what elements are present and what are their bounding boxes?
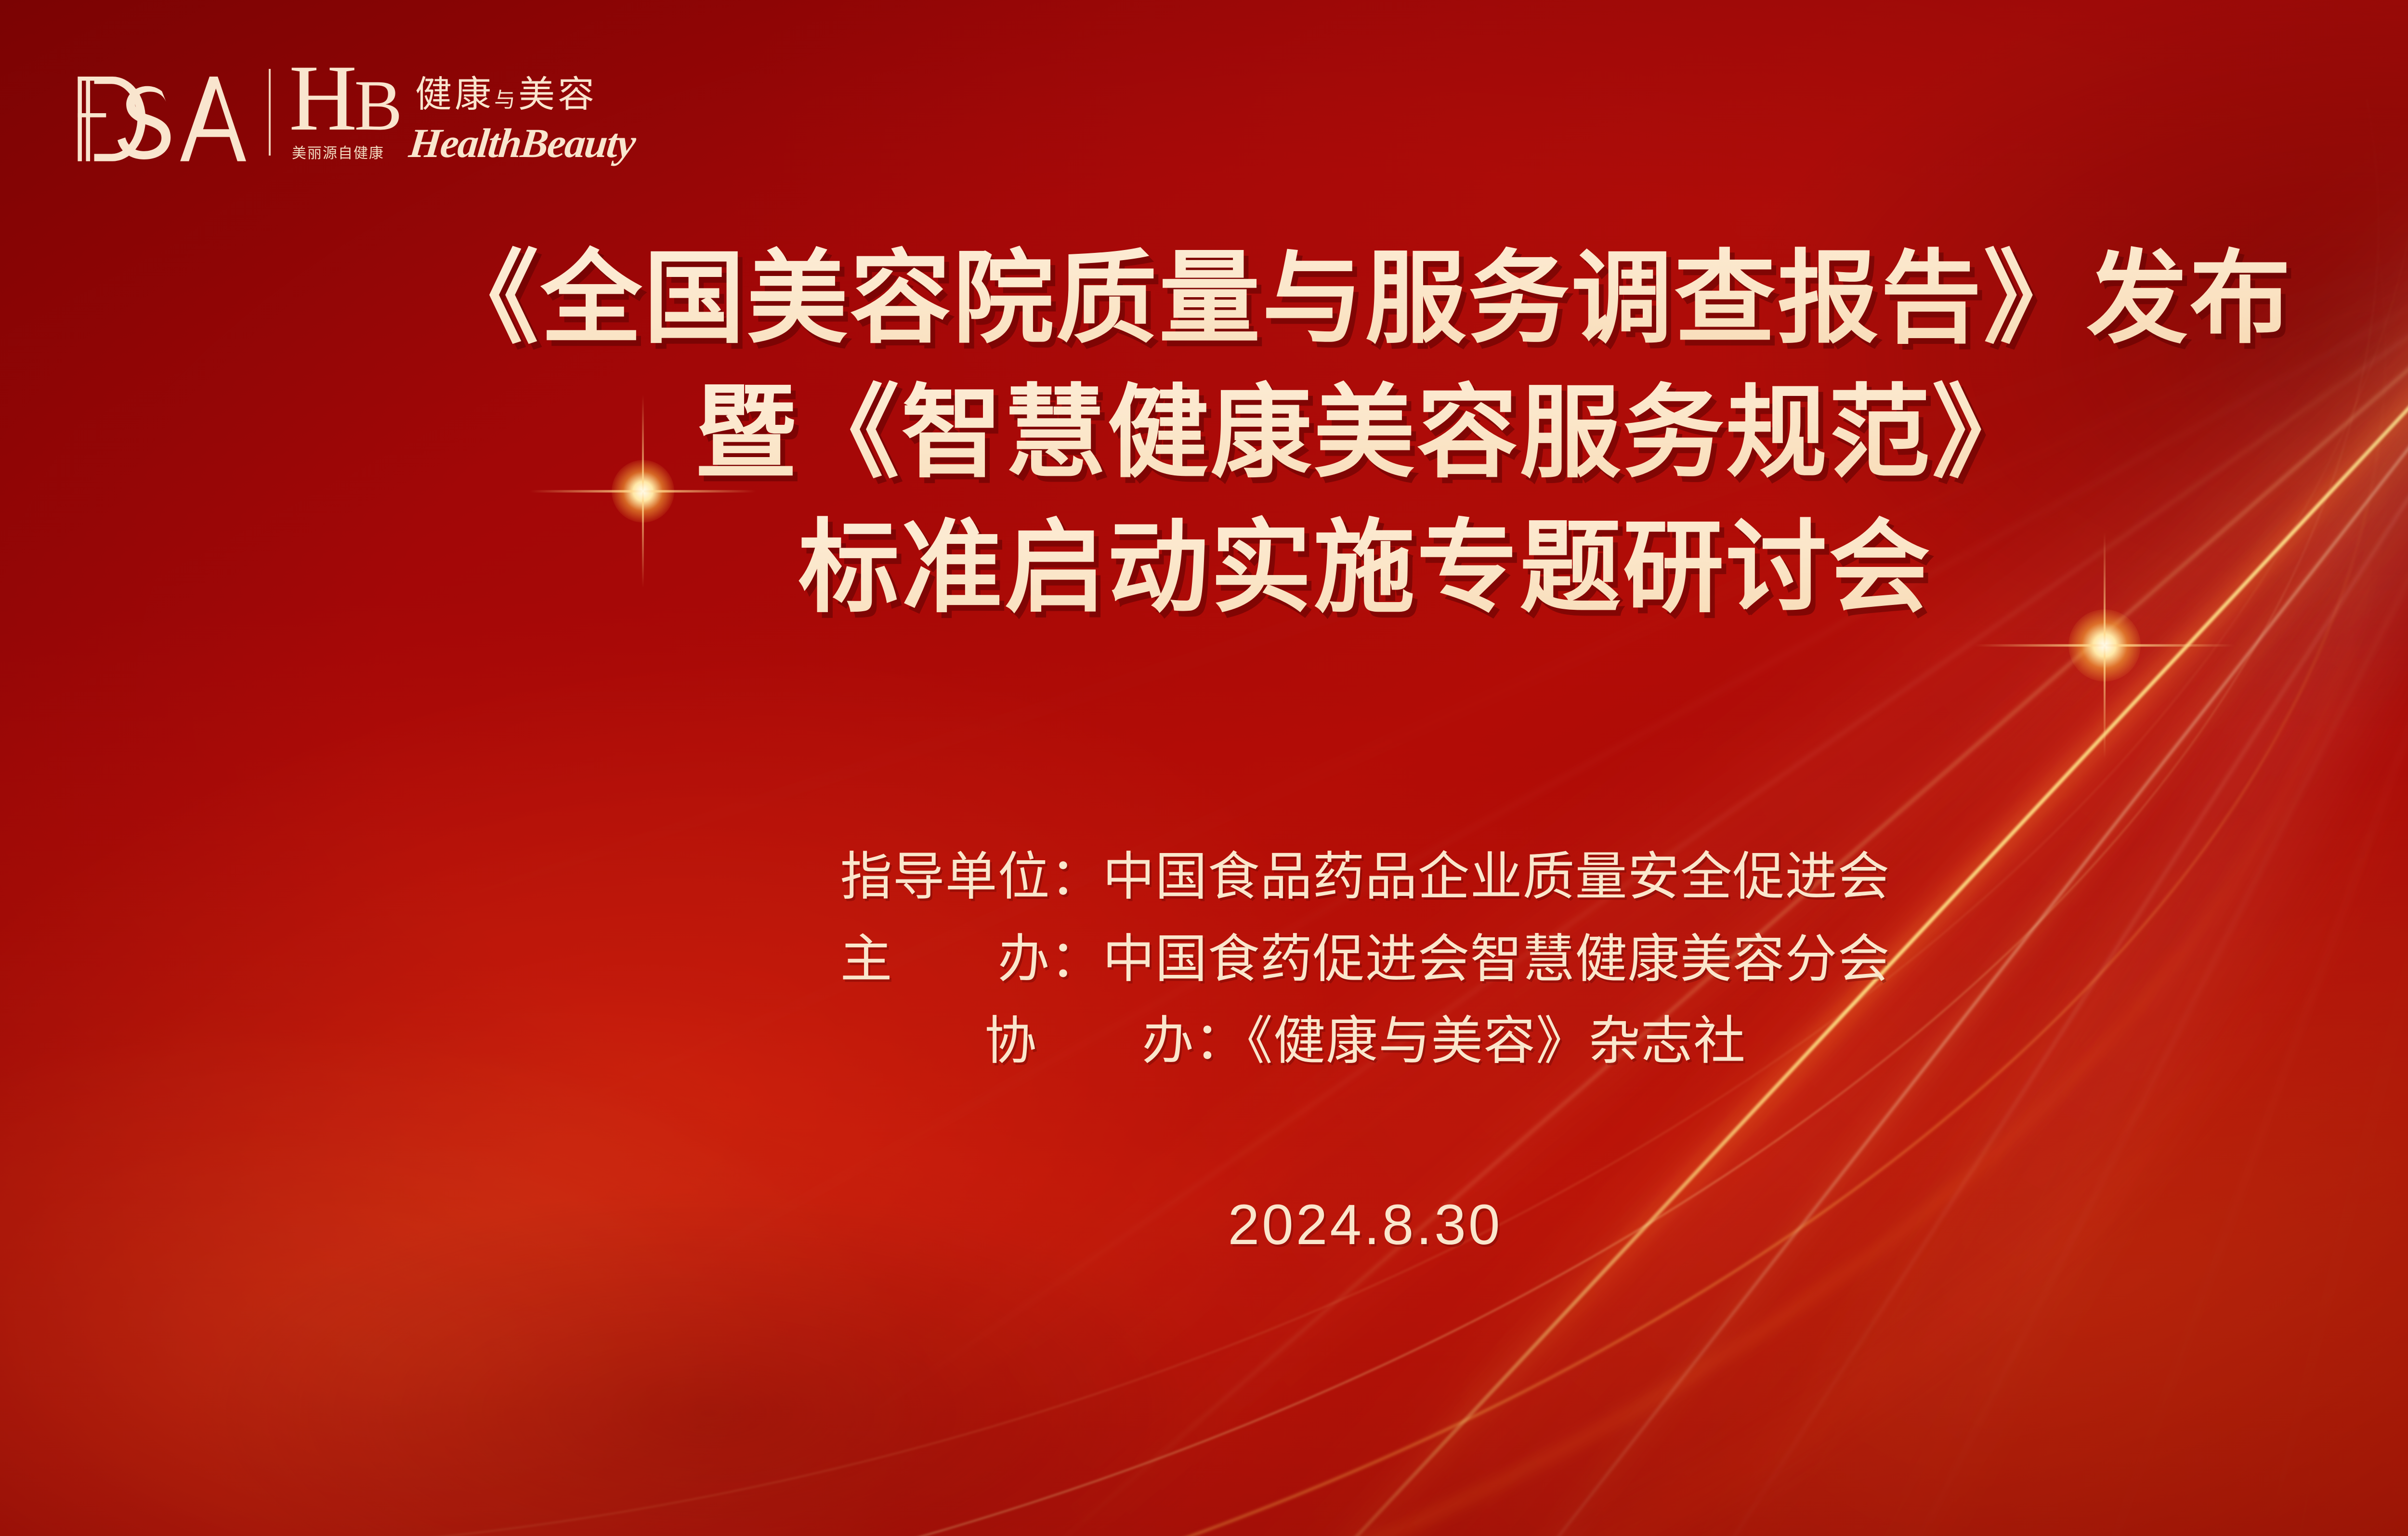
hb-logo-group: HB 美丽源自健康 健康与美容 HealthBeauty	[289, 62, 645, 165]
title-line-3: 标准启动实施专题研讨会	[0, 500, 2408, 635]
event-title: 《全国美容院质量与服务调查报告》发布 暨《智慧健康美容服务规范》 标准启动实施专…	[0, 231, 2408, 635]
title-line-1: 《全国美容院质量与服务调查报告》发布	[0, 231, 2408, 366]
organizer-row-coorganizer: 协 办：《健康与美容》杂志社	[0, 1000, 2408, 1082]
background-base	[0, 0, 2408, 1536]
organizer-row-guidance: 指导单位：中国食品药品企业质量安全促进会	[0, 836, 2408, 918]
organizer-row-host: 主 办：中国食药促进会智慧健康美容分会	[0, 918, 2408, 1000]
title-line-2: 暨《智慧健康美容服务规范》	[0, 366, 2408, 500]
event-date: 2024.8.30	[0, 1192, 2408, 1258]
organizer-list: 指导单位：中国食品药品企业质量安全促进会 主 办：中国食药促进会智慧健康美容分会…	[0, 836, 2408, 1082]
hb-chinese-name: 健康与美容	[415, 65, 597, 118]
fdsa-logomark	[72, 63, 255, 164]
brand-logo[interactable]: HB 美丽源自健康 健康与美容 HealthBeauty	[72, 58, 645, 169]
event-date-value: 2024.8.30	[0, 1192, 2408, 1258]
event-banner: HB 美丽源自健康 健康与美容 HealthBeauty 《全国美容院质量与服务…	[0, 0, 2408, 1536]
logo-divider	[269, 69, 271, 156]
hb-tagline: 美丽源自健康	[292, 141, 384, 162]
hb-wordmark: HB	[289, 58, 400, 139]
hb-script-name: HealthBeauty	[407, 119, 638, 167]
